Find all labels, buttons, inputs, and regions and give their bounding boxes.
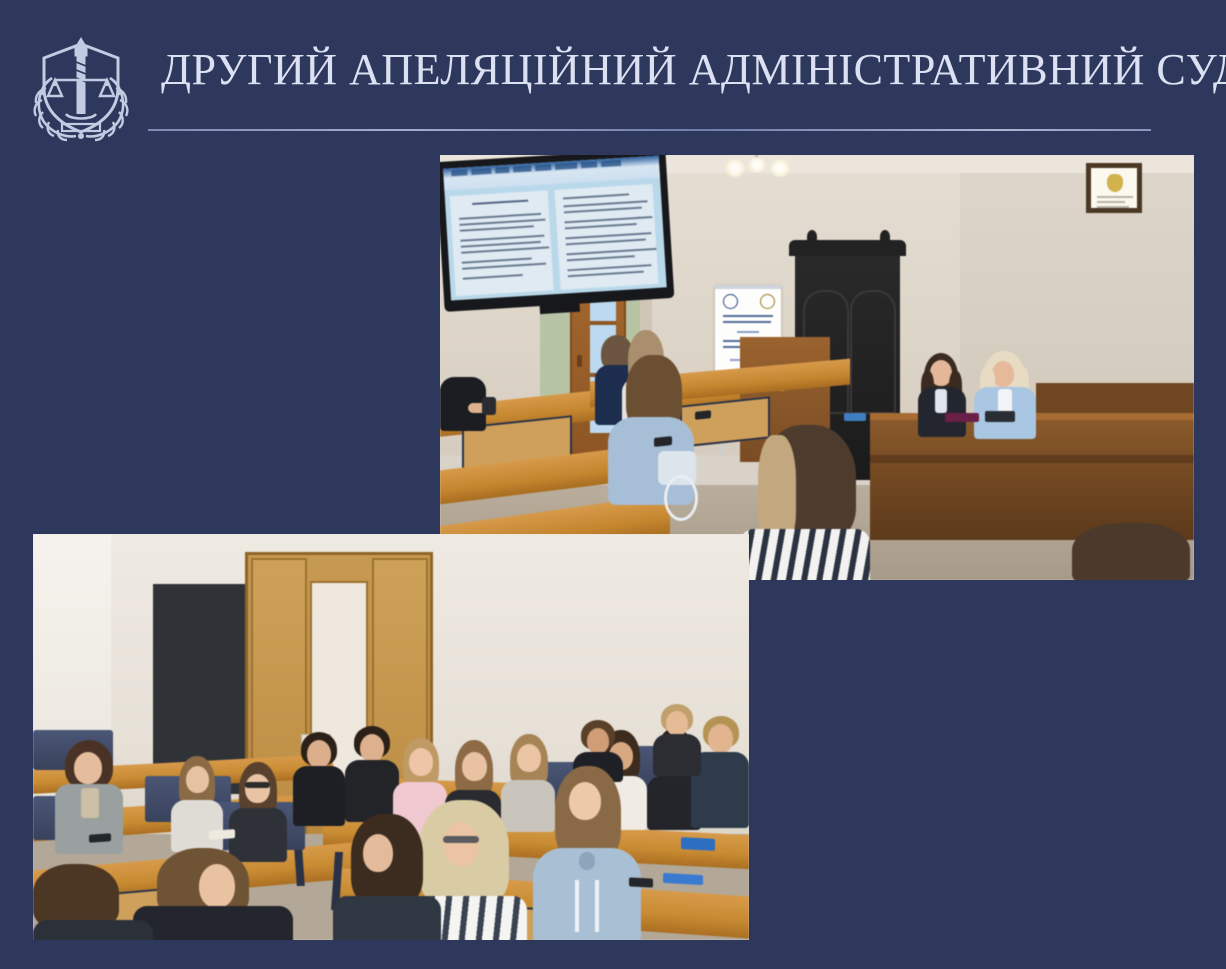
student-person-front-blue-sweater xyxy=(533,766,641,940)
official-person-light-blue-jacket xyxy=(972,351,1040,437)
student-person-front-left-edge xyxy=(33,864,153,940)
paper-on-desk xyxy=(209,829,235,840)
slide-page: ДРУГИЙ АПЕЛЯЦІЙНИЙ АДМІНІСТРАТИВНИЙ СУД xyxy=(0,0,1226,969)
student-person-b12 xyxy=(653,704,701,774)
classroom-students-photo xyxy=(33,534,749,940)
presentation-monitor xyxy=(440,155,674,312)
student-person-foreground-striped xyxy=(740,425,870,580)
student-person-b5 xyxy=(345,726,399,822)
door-handle xyxy=(577,355,582,367)
page-header: ДРУГИЙ АПЕЛЯЦІЙНИЙ АДМІНІСТРАТИВНИЙ СУД xyxy=(0,0,1226,150)
bench-backrail xyxy=(1036,383,1194,417)
bench-device xyxy=(985,411,1015,422)
student-person-foreground-right xyxy=(1072,523,1194,580)
student-person-b4 xyxy=(293,732,345,824)
phone-on-desk-2 xyxy=(695,410,711,420)
eyeglasses-icon-2 xyxy=(443,836,479,843)
bench-folder xyxy=(945,413,979,422)
courtroom-session-photo xyxy=(440,155,1194,580)
ceiling-light-fixture xyxy=(725,155,791,181)
bench-notebook xyxy=(844,413,866,421)
student-person-blue-sweater xyxy=(600,355,698,505)
eyeglasses-icon xyxy=(245,782,270,788)
court-emblem-icon xyxy=(22,26,140,144)
student-person-b1 xyxy=(55,740,123,850)
bench-moulding xyxy=(870,455,1194,463)
monitor-screen xyxy=(443,156,667,301)
student-person-left-edge xyxy=(440,377,500,437)
blue-folder xyxy=(663,873,703,885)
framed-wall-picture xyxy=(1086,163,1142,213)
student-person-front-foreground xyxy=(133,848,293,940)
student-person-b3-glasses xyxy=(229,762,287,858)
document-page-right xyxy=(555,184,659,290)
document-page-left xyxy=(450,190,554,296)
header-divider xyxy=(148,129,1151,131)
phone-on-desk-b2 xyxy=(89,833,111,843)
student-person-front-dark-coat xyxy=(333,814,441,940)
page-title: ДРУГИЙ АПЕЛЯЦІЙНИЙ АДМІНІСТРАТИВНИЙ СУД xyxy=(161,44,1226,96)
phone-on-desk xyxy=(654,436,672,447)
phone-on-desk-b xyxy=(629,877,653,887)
blue-notebook xyxy=(681,837,715,851)
